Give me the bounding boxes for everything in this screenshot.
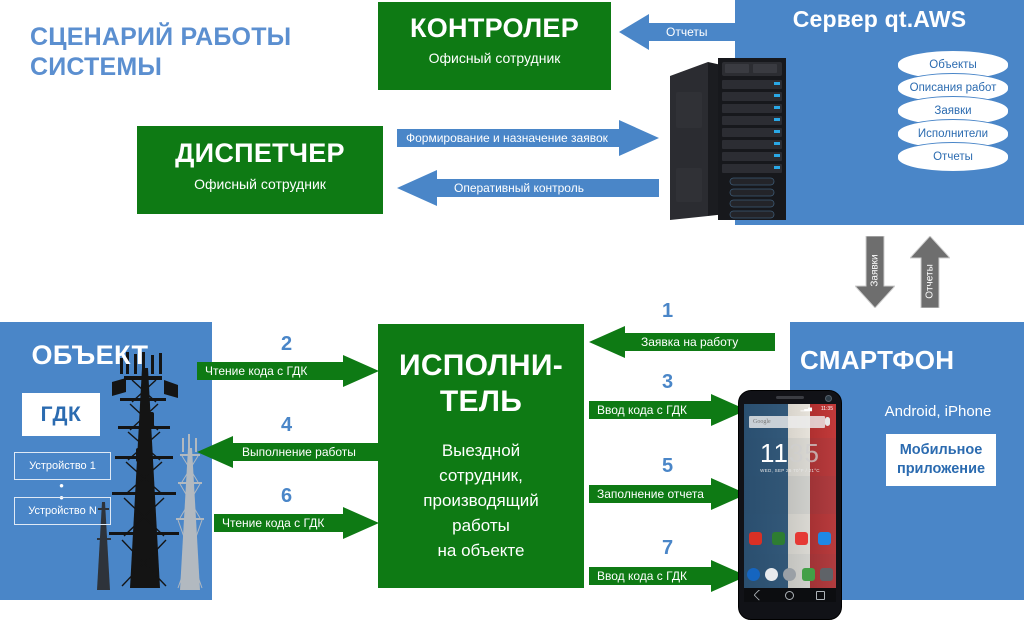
arrow-dispatcher-to-server-label: Формирование и назначение заявок	[406, 132, 608, 144]
smartphone-device: ▁▃▅ 11:35 Google 1135 WED, SEP 25 70°F /…	[738, 390, 842, 620]
executor-name-line2: ТЕЛЬ	[378, 384, 584, 420]
google-search-hint: Google	[753, 419, 771, 425]
device-box-last: Устройство N	[14, 497, 111, 525]
arrow-step-2-label: Чтение кода с ГДК	[205, 365, 307, 377]
step-number-3: 3	[662, 371, 673, 394]
controller-box: КОНТРОЛЕР Офисный сотрудник	[378, 2, 611, 90]
phone-app-row-1	[744, 532, 836, 545]
arrow-step-7-label: Ввод кода с ГДК	[597, 570, 687, 582]
server-rack-icon	[668, 48, 798, 223]
step-number-1: 1	[662, 300, 673, 323]
arrow-step-4: Выполнение работы	[197, 436, 379, 468]
phone-nav-bar	[744, 588, 836, 602]
object-title: ОБЪЕКТ	[0, 340, 180, 371]
youtube-icon[interactable]	[795, 532, 808, 545]
arrow-step-3-label: Ввод кода с ГДК	[597, 404, 687, 416]
step-number-5: 5	[662, 455, 673, 478]
phone-screen: ▁▃▅ 11:35 Google 1135 WED, SEP 25 70°F /…	[744, 404, 836, 602]
gdk-label: ГДК	[41, 403, 82, 427]
executor-desc-line3: производящий	[378, 488, 584, 513]
page-title: СЦЕНАРИЙ РАБОТЫ СИСТЕМЫ	[30, 22, 360, 82]
play-store-icon[interactable]	[818, 532, 831, 545]
arrow-step-7: Ввод кода с ГДК	[589, 560, 747, 592]
nav-recents-icon[interactable]	[816, 591, 825, 600]
executor-description: Выездной сотрудник, производящий работы …	[378, 438, 584, 563]
messages-icon[interactable]	[802, 568, 815, 581]
chrome-icon[interactable]	[765, 568, 778, 581]
maps-icon[interactable]	[772, 532, 785, 545]
executor-box: ИСПОЛНИ- ТЕЛЬ Выездной сотрудник, произв…	[378, 324, 584, 588]
smartphone-title: СМАРТФОН	[800, 345, 1014, 376]
phone-status-bar: ▁▃▅ 11:35	[744, 404, 836, 413]
arrow-reports-up-label: Отчеты	[925, 260, 936, 304]
gmail-icon[interactable]	[749, 532, 762, 545]
db-table-reports: Отчеты	[897, 142, 1009, 172]
app-drawer-icon[interactable]	[783, 568, 796, 581]
database-stack: Объекты Описания работ Заявки Исполнител…	[897, 50, 1009, 172]
phone-date-line: WED, SEP 25 70°F / 21°C	[744, 468, 836, 473]
step-number-4: 4	[281, 414, 292, 437]
page-title-line2: СИСТЕМЫ	[30, 52, 360, 82]
phone-dialer-icon[interactable]	[747, 568, 760, 581]
arrow-step-1-label: Заявка на работу	[641, 336, 738, 348]
executor-desc-line4: работы	[378, 513, 584, 538]
controller-name: КОНТРОЛЕР	[378, 13, 611, 44]
phone-app-row-2	[744, 568, 836, 581]
executor-desc-line2: сотрудник,	[378, 463, 584, 488]
controller-role: Офисный сотрудник	[378, 50, 611, 66]
mobile-app-line2: приложение	[897, 460, 985, 479]
arrow-dispatcher-to-server: Формирование и назначение заявок	[397, 120, 659, 156]
dispatcher-role: Офисный сотрудник	[137, 176, 383, 192]
executor-name: ИСПОЛНИ- ТЕЛЬ	[378, 348, 584, 420]
dispatcher-box: ДИСПЕТЧЕР Офисный сотрудник	[137, 126, 383, 214]
dispatcher-name: ДИСПЕТЧЕР	[137, 138, 383, 169]
microphone-icon[interactable]	[825, 417, 830, 426]
smartphone-platforms: Android, iPhone	[858, 403, 1018, 420]
executor-desc-line5: на объекте	[378, 538, 584, 563]
step-number-7: 7	[662, 537, 673, 560]
executor-desc-line1: Выездной	[378, 438, 584, 463]
arrow-server-to-dispatcher: Оперативный контроль	[397, 170, 659, 206]
ellipsis-dot-1: •	[14, 482, 109, 489]
mobile-app-box: Мобильное приложение	[886, 434, 996, 486]
arrow-step-6: Чтение кода с ГДК	[214, 507, 379, 539]
arrow-requests-down-label: Заявки	[870, 249, 881, 293]
arrow-step-2: Чтение кода с ГДК	[197, 355, 379, 387]
mobile-app-line1: Мобильное	[900, 441, 983, 460]
device-last-label: Устройство N	[28, 505, 97, 517]
device-box-first: Устройство 1	[14, 452, 111, 480]
nav-back-icon[interactable]	[753, 589, 764, 600]
arrow-step-4-label: Выполнение работы	[242, 446, 356, 458]
signal-icon: ▁▃▅	[800, 406, 812, 412]
device-first-label: Устройство 1	[29, 460, 96, 472]
arrow-step-6-label: Чтение кода с ГДК	[222, 517, 324, 529]
arrow-step-3: Ввод кода с ГДК	[589, 394, 747, 426]
nav-home-icon[interactable]	[785, 591, 794, 600]
arrow-reports-up: Отчеты	[910, 236, 950, 308]
phone-speaker	[776, 396, 804, 399]
arrow-server-to-dispatcher-label: Оперативный контроль	[454, 182, 584, 194]
phone-camera-icon	[825, 395, 832, 402]
arrow-step-5: Заполнение отчета	[589, 478, 747, 510]
phone-clock-widget: 1135	[744, 440, 836, 466]
google-search-bar[interactable]: Google	[749, 416, 825, 428]
server-title: Сервер qt.AWS	[735, 6, 1024, 33]
phone-status-time: 11:35	[821, 406, 833, 412]
arrow-reports-to-controller: Отчеты	[619, 12, 735, 52]
gdk-box: ГДК	[22, 393, 100, 436]
arrow-requests-down: Заявки	[855, 236, 895, 308]
arrow-step-1: Заявка на работу	[589, 326, 775, 358]
camera-app-icon[interactable]	[820, 568, 833, 581]
arrow-step-5-label: Заполнение отчета	[597, 488, 704, 500]
step-number-2: 2	[281, 333, 292, 356]
antenna-tower-icon	[96, 352, 212, 600]
page-title-line1: СЦЕНАРИЙ РАБОТЫ	[30, 22, 360, 52]
arrow-reports-label: Отчеты	[666, 26, 707, 38]
diagram-canvas: СЦЕНАРИЙ РАБОТЫ СИСТЕМЫ	[0, 0, 1024, 620]
step-number-6: 6	[281, 485, 292, 508]
phone-clock-hours: 11	[760, 438, 789, 468]
phone-clock-minutes: 35	[789, 438, 820, 468]
executor-name-line1: ИСПОЛНИ-	[378, 348, 584, 384]
